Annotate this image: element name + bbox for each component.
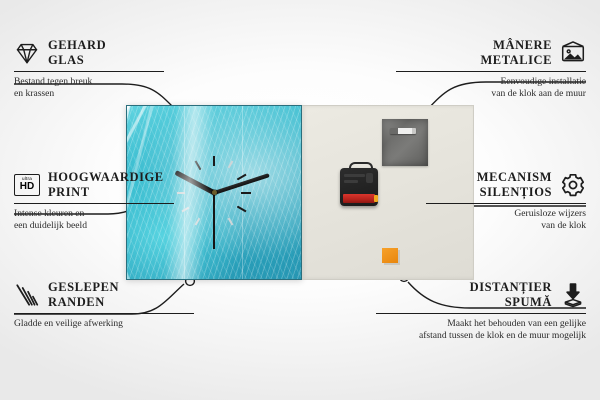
callout-distantier-spuma: DISTANȚIER SPUMĂ Maakt het behouden van … <box>376 280 586 343</box>
callout-desc-line2: van de klok aan de muur <box>396 88 586 101</box>
clock-center-cap <box>212 190 217 195</box>
bevelled-edge-icon <box>14 282 40 308</box>
battery <box>343 194 375 203</box>
callout-title-line2: METALICE <box>480 53 552 68</box>
callout-title-line1: HOOGWAARDIGE <box>48 170 164 185</box>
callout-rule <box>426 203 586 204</box>
callout-mecanism-silentios: MECANISM SILENȚIOS Geruisloze wijzers va… <box>426 170 586 233</box>
callout-rule <box>14 71 164 72</box>
ultra-hd-icon-main: HD <box>20 182 34 192</box>
callout-geslepen-randen: GESLEPEN RANDEN Gladde en veilige afwerk… <box>14 280 194 330</box>
callout-manere-metalice: MÂNERE METALICE Eenvoudige installatie v… <box>396 38 586 101</box>
callout-title-line1: GEHARD <box>48 38 106 53</box>
diamond-icon <box>14 40 40 66</box>
gear-icon <box>560 172 586 198</box>
callout-desc-line1: Geruisloze wijzers <box>426 208 586 221</box>
callout-desc-line2: en krassen <box>14 88 164 101</box>
callout-desc-line2: van de klok <box>426 220 586 233</box>
callout-title-line1: MÂNERE <box>480 38 552 53</box>
callout-hoogwaardige-print: ultra HD HOOGWAARDIGE PRINT Intense kleu… <box>14 170 174 233</box>
callout-desc-line2: afstand tussen de klok en de muur mogeli… <box>376 330 586 343</box>
callout-title-line2: SPUMĂ <box>470 295 552 310</box>
clock-minute-hand <box>213 173 269 195</box>
callout-desc-line1: Maakt het behouden van een gelijke <box>376 318 586 331</box>
foam-spacer <box>382 248 398 263</box>
callout-desc-line1: Intense kleuren en <box>14 208 174 221</box>
ultra-hd-icon: ultra HD <box>14 174 40 196</box>
callout-desc-line1: Bestand tegen breuk <box>14 76 164 89</box>
clock-hour-hand <box>174 170 215 195</box>
arrow-down-pad-icon <box>560 282 586 308</box>
callout-title-line1: MECANISM <box>477 170 552 185</box>
callout-rule <box>14 203 174 204</box>
callout-rule <box>14 313 194 314</box>
callout-title-line2: PRINT <box>48 185 164 200</box>
callout-rule <box>376 313 586 314</box>
callout-title-line2: GLAS <box>48 53 106 68</box>
callout-title-line2: RANDEN <box>48 295 119 310</box>
callout-desc-line1: Eenvoudige installatie <box>396 76 586 89</box>
callout-title-line1: GESLEPEN <box>48 280 119 295</box>
callout-rule <box>396 71 586 72</box>
clock-mechanism-box <box>340 168 378 206</box>
picture-frame-icon <box>560 40 586 66</box>
callout-gehard-glas: GEHARD GLAS Bestand tegen breuk en krass… <box>14 38 164 101</box>
product-photo <box>126 105 474 280</box>
callout-desc-line2: een duidelijk beeld <box>14 220 174 233</box>
callout-title-line2: SILENȚIOS <box>477 185 552 200</box>
callout-title-line1: DISTANȚIER <box>470 280 552 295</box>
callout-desc-line1: Gladde en veilige afwerking <box>14 318 194 331</box>
metal-hanger-plate <box>382 119 428 166</box>
infographic-stage: GEHARD GLAS Bestand tegen breuk en krass… <box>0 0 600 400</box>
clock-second-hand <box>213 193 215 249</box>
